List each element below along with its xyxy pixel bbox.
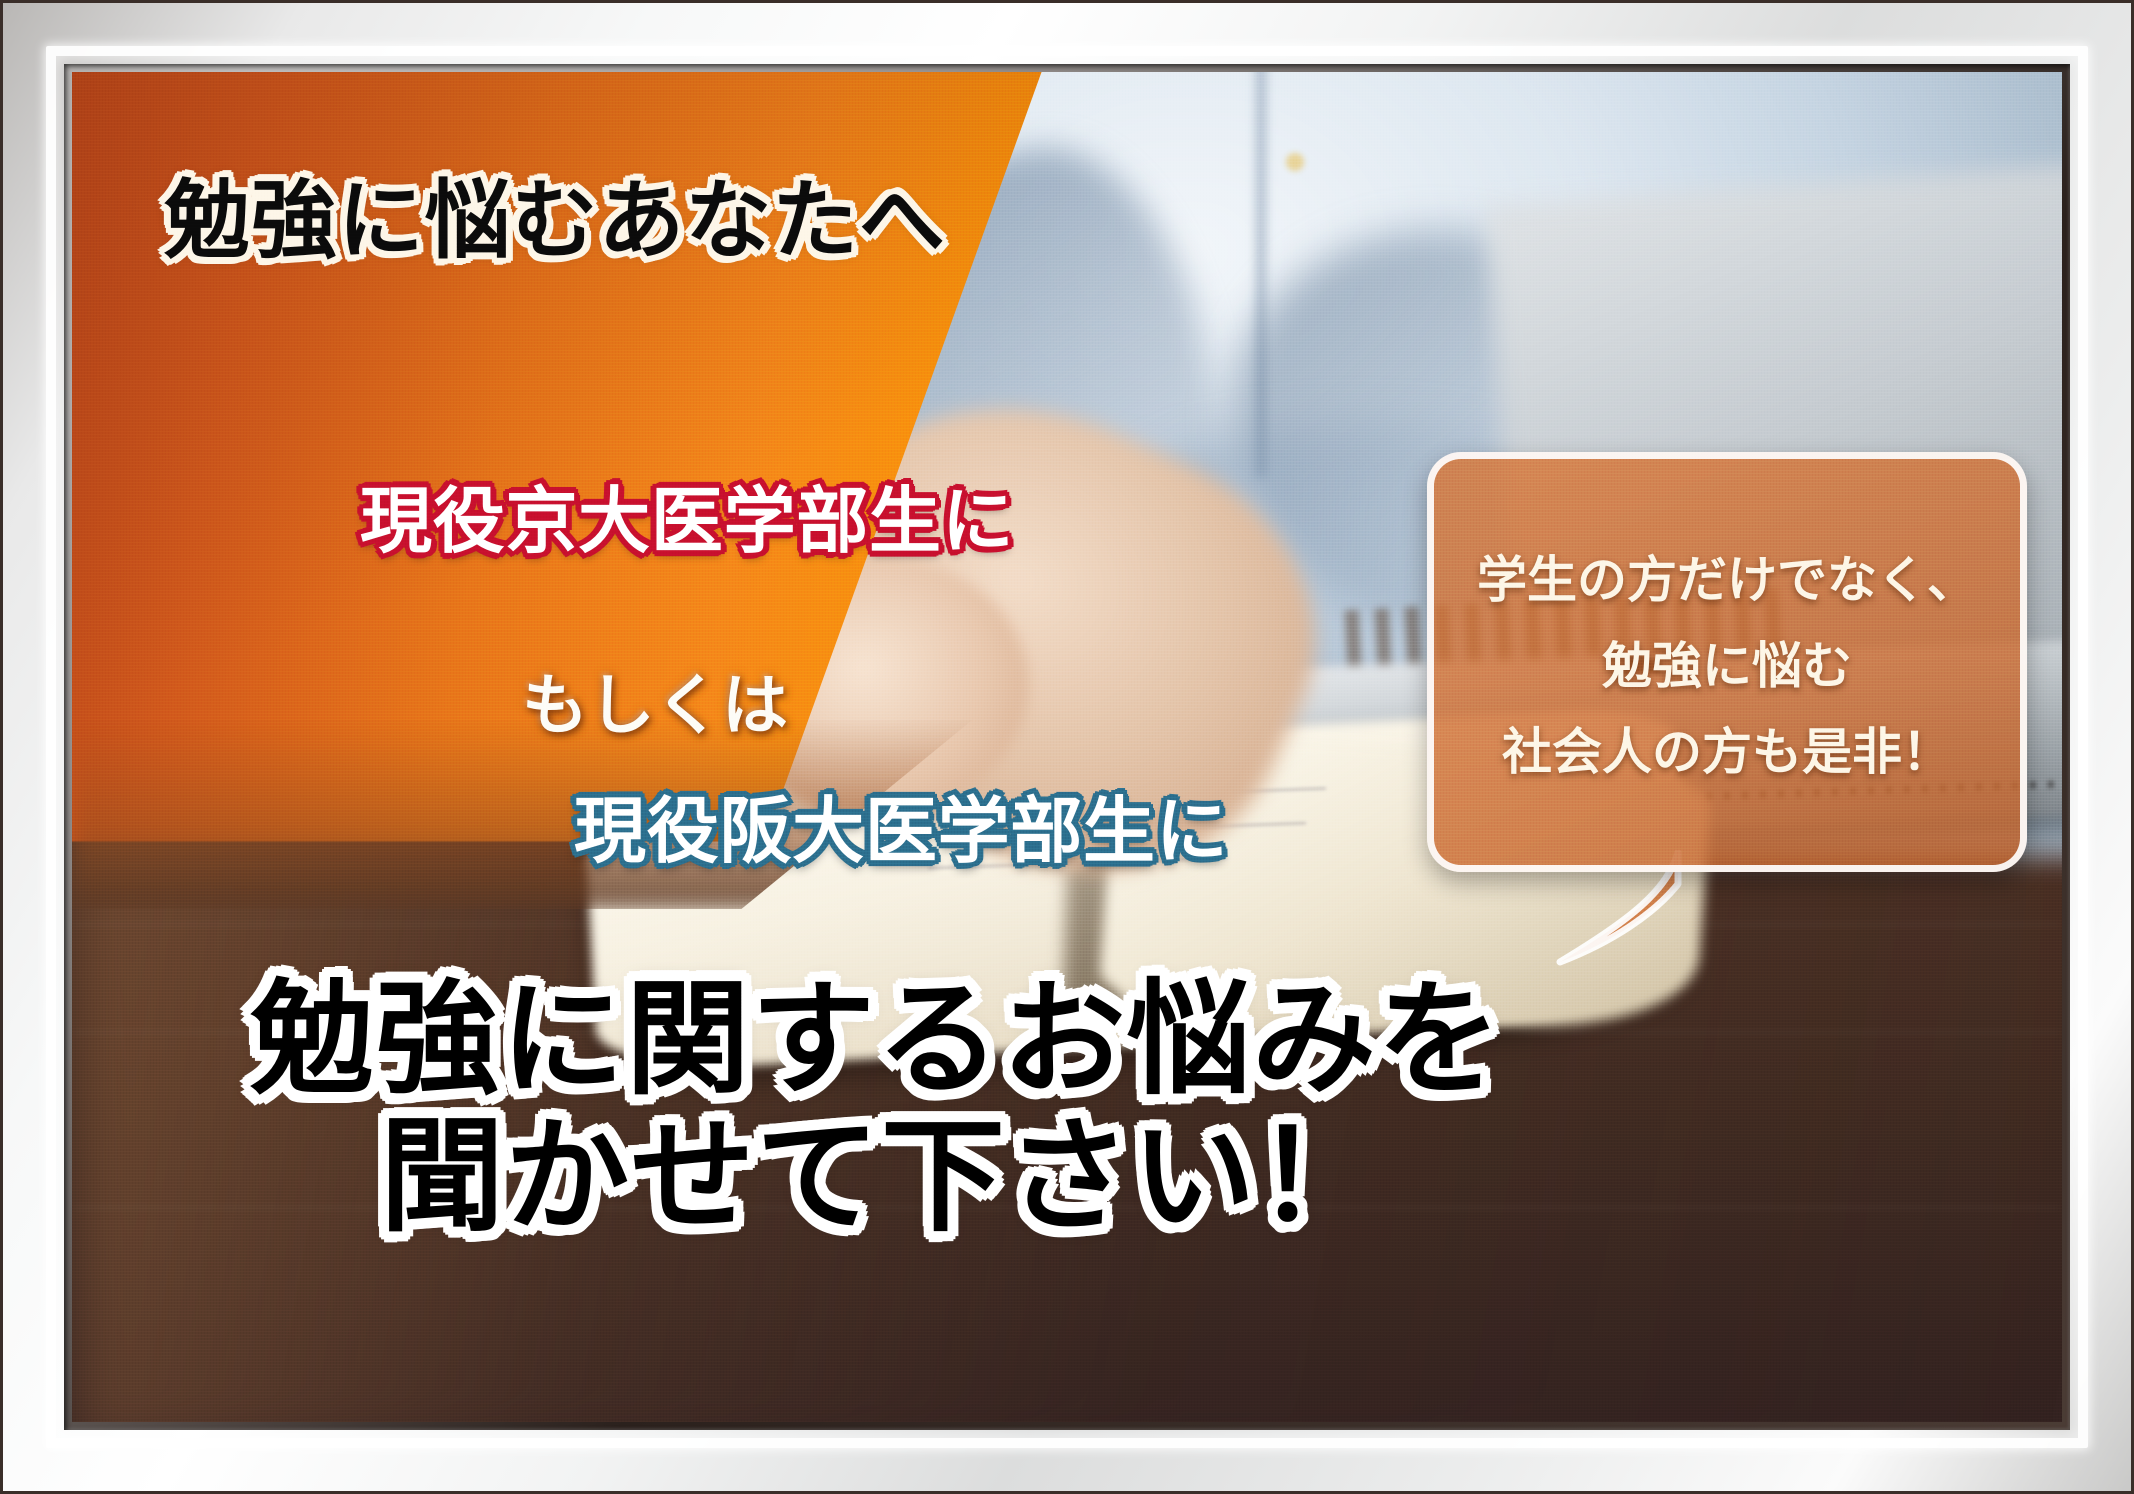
cta-headline-line-1: 勉強に関するお悩みを <box>250 977 1502 1103</box>
subline-kyoto-university: 現役京大医学部生に <box>360 462 1014 567</box>
speech-bubble: 学生の方だけでなく、 勉強に悩む 社会人の方も是非！ <box>1427 452 2027 872</box>
speech-bubble-line-2: 勉強に悩む <box>1602 626 1852 698</box>
subline-osaka-university: 現役阪大医学部生に <box>574 772 1228 877</box>
background-photo: 勉強に悩むあなたへ 現役京大医学部生に もしくは 現役阪大医学部生に 勉強に関す… <box>72 72 2062 1422</box>
subline-or: もしくは <box>522 652 789 748</box>
poster: 勉強に悩むあなたへ 現役京大医学部生に もしくは 現役阪大医学部生に 勉強に関す… <box>0 0 2134 1494</box>
shirt-button-icon <box>1286 153 1304 171</box>
page-title: 勉強に悩むあなたへ <box>164 150 946 275</box>
cta-headline-line-2: 聞かせて下さい！ <box>380 1114 1382 1240</box>
speech-bubble-line-1: 学生の方だけでなく、 <box>1477 540 1977 612</box>
speech-bubble-line-3: 社会人の方も是非！ <box>1502 712 1952 784</box>
